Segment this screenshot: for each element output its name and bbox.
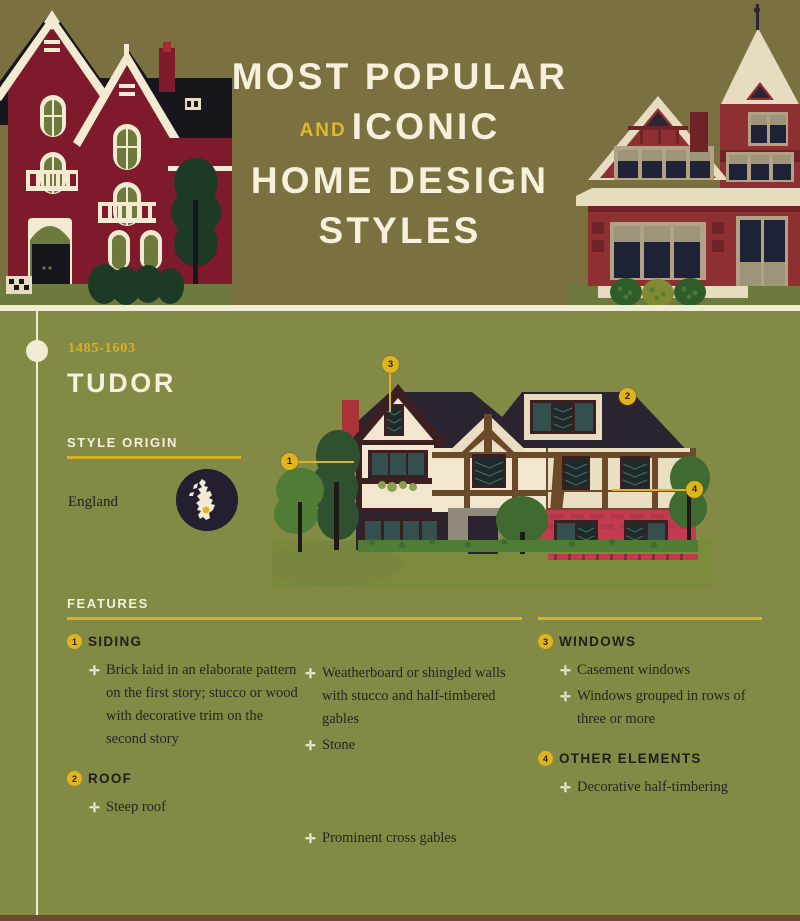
bullet-marker-icon: ✛ xyxy=(305,734,316,757)
title-line-3: HOME DESIGN xyxy=(0,156,800,206)
category-windows: 3 WINDOWS xyxy=(538,634,773,649)
bullet-marker-icon: ✛ xyxy=(560,776,571,799)
category-other-elements: 4 OTHER ELEMENTS xyxy=(538,751,773,766)
callout-badge-1[interactable]: 1 xyxy=(281,453,298,470)
other-elements-bullet-list: ✛Decorative half-timbering xyxy=(560,776,773,799)
bullet-marker-icon: ✛ xyxy=(560,659,571,682)
windows-bullet-list: ✛Casement windows ✛Windows grouped in ro… xyxy=(560,659,773,731)
style-origin-heading: STYLE ORIGIN xyxy=(67,435,178,450)
features-heading: FEATURES xyxy=(67,596,149,611)
list-item: ✛Windows grouped in rows of three or mor… xyxy=(560,685,773,731)
title-and-label: AND xyxy=(300,120,347,141)
list-item: ✛Decorative half-timbering xyxy=(560,776,773,799)
features-column-middle: ✛Weatherboard or shingled walls with stu… xyxy=(305,662,520,870)
list-item-text: Decorative half-timbering xyxy=(577,779,728,795)
tudor-house-illustration xyxy=(272,352,712,587)
bullet-marker-icon: ✛ xyxy=(305,827,316,850)
category-number-badge: 3 xyxy=(538,634,553,649)
list-item: ✛Weatherboard or shingled walls with stu… xyxy=(305,662,520,731)
list-item-text: Steep roof xyxy=(106,799,166,815)
category-number-badge: 2 xyxy=(67,771,82,786)
siding-bullet-list-left: ✛Brick laid in an elaborate pattern on t… xyxy=(89,659,302,751)
list-item: ✛Brick laid in an elaborate pattern on t… xyxy=(89,659,302,751)
category-number-badge: 1 xyxy=(67,634,82,649)
title-iconic: ICONIC xyxy=(352,106,501,147)
list-item-text: Prominent cross gables xyxy=(322,830,457,846)
features-column-right: 3 WINDOWS ✛Casement windows ✛Windows gro… xyxy=(538,634,773,819)
bullet-marker-icon: ✛ xyxy=(305,662,316,685)
callout-badge-4[interactable]: 4 xyxy=(686,481,703,498)
features-rule-right xyxy=(538,617,762,620)
roof-bullet-list-middle: ✛Prominent cross gables xyxy=(305,827,520,850)
callout-badge-2[interactable]: 2 xyxy=(619,388,636,405)
title-line-1: MOST POPULAR xyxy=(0,52,800,102)
main-title: MOST POPULAR ANDICONIC HOME DESIGN STYLE… xyxy=(0,52,800,256)
header-divider xyxy=(0,305,800,311)
bullet-marker-icon: ✛ xyxy=(560,685,571,708)
column-spacer xyxy=(305,767,520,827)
callout-leader-4 xyxy=(612,489,690,491)
list-item-text: Stone xyxy=(322,737,355,753)
siding-bullet-list-middle: ✛Weatherboard or shingled walls with stu… xyxy=(305,662,520,757)
header-banner: MOST POPULAR ANDICONIC HOME DESIGN STYLE… xyxy=(0,0,800,305)
title-line-4: STYLES xyxy=(0,206,800,256)
era-date: 1485-1603 xyxy=(68,341,136,357)
list-item-text: Casement windows xyxy=(577,662,690,678)
bullet-marker-icon: ✛ xyxy=(89,659,100,682)
category-number-badge: 4 xyxy=(538,751,553,766)
category-roof: 2 ROOF xyxy=(67,771,302,786)
category-label: ROOF xyxy=(88,771,132,786)
origin-country: England xyxy=(68,494,118,511)
roof-bullet-list-left: ✛Steep roof xyxy=(89,796,302,819)
list-item: ✛Steep roof xyxy=(89,796,302,819)
category-label: SIDING xyxy=(88,634,142,649)
bottom-strip xyxy=(0,915,800,921)
list-item-text: Windows grouped in rows of three or more xyxy=(577,688,746,727)
style-name: TUDOR xyxy=(67,368,176,399)
list-item: ✛Prominent cross gables xyxy=(305,827,520,850)
list-item: ✛Stone xyxy=(305,734,520,757)
category-label: WINDOWS xyxy=(559,634,636,649)
list-item-text: Weatherboard or shingled walls with stuc… xyxy=(322,665,506,727)
timeline-line xyxy=(36,311,38,915)
category-label: OTHER ELEMENTS xyxy=(559,751,702,766)
category-siding: 1 SIDING xyxy=(67,634,302,649)
infographic-page: MOST POPULAR ANDICONIC HOME DESIGN STYLE… xyxy=(0,0,800,921)
style-origin-rule xyxy=(67,456,241,459)
features-column-left: 1 SIDING ✛Brick laid in an elaborate pat… xyxy=(67,634,302,839)
callout-leader-1 xyxy=(292,461,354,463)
bullet-marker-icon: ✛ xyxy=(89,796,100,819)
title-line-2: ANDICONIC xyxy=(0,102,800,156)
timeline-marker-dot xyxy=(26,340,48,362)
united-kingdom-map-icon xyxy=(176,469,238,531)
list-item-text: Brick laid in an elaborate pattern on th… xyxy=(106,662,298,747)
features-rule-left xyxy=(67,617,522,620)
callout-badge-3[interactable]: 3 xyxy=(382,356,399,373)
list-item: ✛Casement windows xyxy=(560,659,773,682)
